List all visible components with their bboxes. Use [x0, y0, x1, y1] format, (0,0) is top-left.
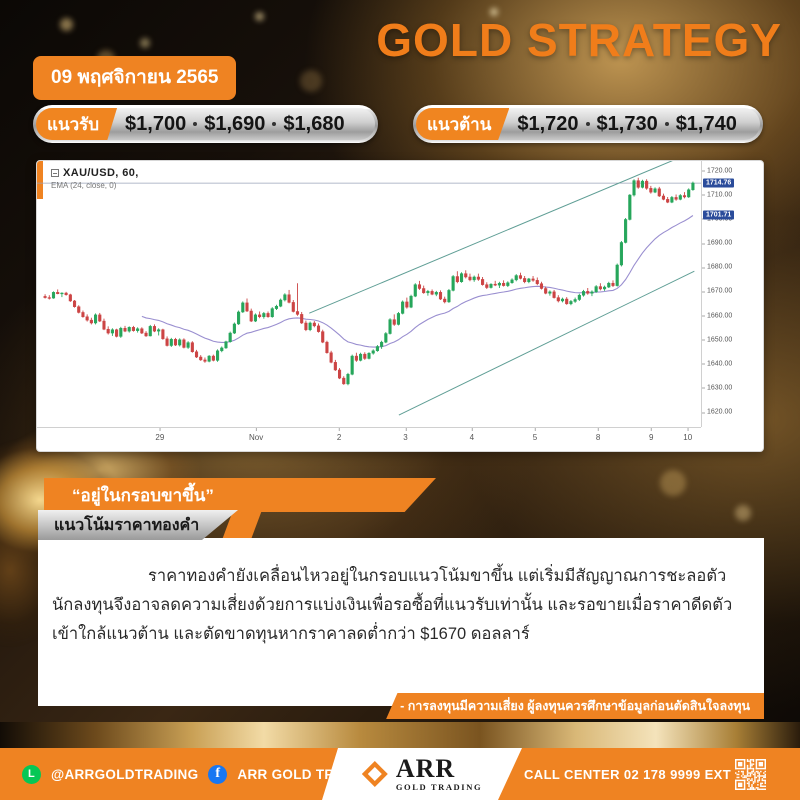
subtitle-text: แนวโน้มราคาทองคำ — [38, 513, 199, 538]
time-tick: 29 — [155, 433, 164, 442]
price-tick: 1650.00 — [707, 336, 732, 343]
disclaimer-banner: - การลงทุนมีความเสี่ยง ผู้ลงทุนควรศึกษาข… — [386, 693, 764, 719]
price-tick: 1720.00 — [707, 167, 732, 174]
bokeh-dot — [735, 505, 751, 521]
qr-code-svg — [735, 759, 766, 790]
price-tick: 1640.00 — [707, 360, 732, 367]
support-levels-pill: แนวรับ $1,700 $1,690 $1,680 — [33, 105, 378, 143]
bokeh-dot — [255, 12, 264, 21]
analysis-paragraph: ราคาทองคำยังเคลื่อนไหวอยู่ในกรอบแนวโน้มข… — [38, 562, 764, 649]
collapse-icon[interactable] — [51, 169, 59, 177]
page-title: GOLD STRATEGY — [376, 13, 782, 67]
resistance-pill-inner: แนวต้าน $1,720 $1,730 $1,740 — [416, 108, 760, 140]
time-tick: 4 — [470, 433, 474, 442]
brand-name: ARR — [396, 756, 482, 782]
support-value-1: $1,700 — [125, 113, 186, 136]
line-icon[interactable]: L — [22, 765, 41, 784]
time-tick: 5 — [533, 433, 537, 442]
footer-bar: L @ARRGOLDTRADING f ARR GOLD TRADING ARR… — [0, 748, 800, 800]
diamond-logo-icon — [362, 761, 388, 787]
price-chart-card[interactable]: XAU/USD, 60, EMA (24, close, 0) 1620.001… — [36, 160, 764, 452]
dot-separator-icon — [272, 122, 276, 126]
price-tick: 1660.00 — [707, 312, 732, 319]
date-badge: 09 พฤศจิกายน 2565 — [33, 56, 236, 100]
time-tick: Nov — [249, 433, 263, 442]
bokeh-dot — [140, 38, 150, 48]
price-tag-2: 1701.71 — [703, 210, 734, 219]
time-tick: 8 — [596, 433, 600, 442]
support-label: แนวรับ — [36, 108, 117, 140]
qr-code-icon[interactable] — [735, 759, 766, 790]
dot-separator-icon — [586, 122, 590, 126]
support-value-3: $1,680 — [283, 113, 344, 136]
price-tick: 1690.00 — [707, 240, 732, 247]
bokeh-dot — [60, 18, 73, 31]
price-tag-1: 1714.76 — [703, 179, 734, 188]
support-value-2: $1,690 — [204, 113, 265, 136]
facebook-icon[interactable]: f — [208, 765, 227, 784]
dot-separator-icon — [665, 122, 669, 126]
brand-tagline: GOLD TRADING — [396, 783, 482, 792]
brand-logo-text: ARR GOLD TRADING — [396, 756, 482, 792]
bokeh-dot — [300, 70, 322, 92]
resistance-value-3: $1,740 — [676, 113, 737, 136]
candlestick-svg — [37, 161, 701, 427]
quote-text: “อยู่ในกรอบขาขึ้น” — [44, 482, 214, 509]
support-values: $1,700 $1,690 $1,680 — [117, 113, 357, 136]
time-tick: 3 — [403, 433, 407, 442]
chart-indicator-label: EMA (24, close, 0) — [51, 181, 139, 190]
price-tick: 1710.00 — [707, 191, 732, 198]
chart-legend: XAU/USD, 60, EMA (24, close, 0) — [51, 167, 139, 190]
resistance-value-2: $1,730 — [597, 113, 658, 136]
chart-plot-area — [37, 161, 701, 427]
dot-separator-icon — [193, 122, 197, 126]
chart-symbol-row: XAU/USD, 60, — [51, 167, 139, 179]
time-tick: 9 — [649, 433, 653, 442]
price-tick: 1620.00 — [707, 409, 732, 416]
bokeh-dot — [660, 470, 686, 496]
price-tick: 1670.00 — [707, 288, 732, 295]
support-pill-inner: แนวรับ $1,700 $1,690 $1,680 — [36, 108, 375, 140]
call-center-text: CALL CENTER 02 178 9999 EXT 9 — [524, 748, 743, 800]
resistance-value-1: $1,720 — [517, 113, 578, 136]
price-tick: 1680.00 — [707, 264, 732, 271]
quote-strip: “อยู่ในกรอบขาขึ้น” — [44, 478, 436, 512]
price-axis[interactable]: 1620.001630.001640.001650.001660.001670.… — [701, 161, 763, 427]
resistance-values: $1,720 $1,730 $1,740 — [509, 113, 749, 136]
line-handle[interactable]: @ARRGOLDTRADING — [51, 767, 198, 782]
chart-symbol-label: XAU/USD, 60, — [63, 167, 139, 179]
resistance-levels-pill: แนวต้าน $1,720 $1,730 $1,740 — [413, 105, 763, 143]
brand-logo: ARR GOLD TRADING — [322, 748, 522, 800]
time-axis[interactable]: 29Nov23458910 — [37, 427, 701, 451]
price-tick: 1630.00 — [707, 384, 732, 391]
time-tick: 2 — [337, 433, 341, 442]
resistance-label: แนวต้าน — [416, 108, 509, 140]
time-tick: 10 — [683, 433, 692, 442]
